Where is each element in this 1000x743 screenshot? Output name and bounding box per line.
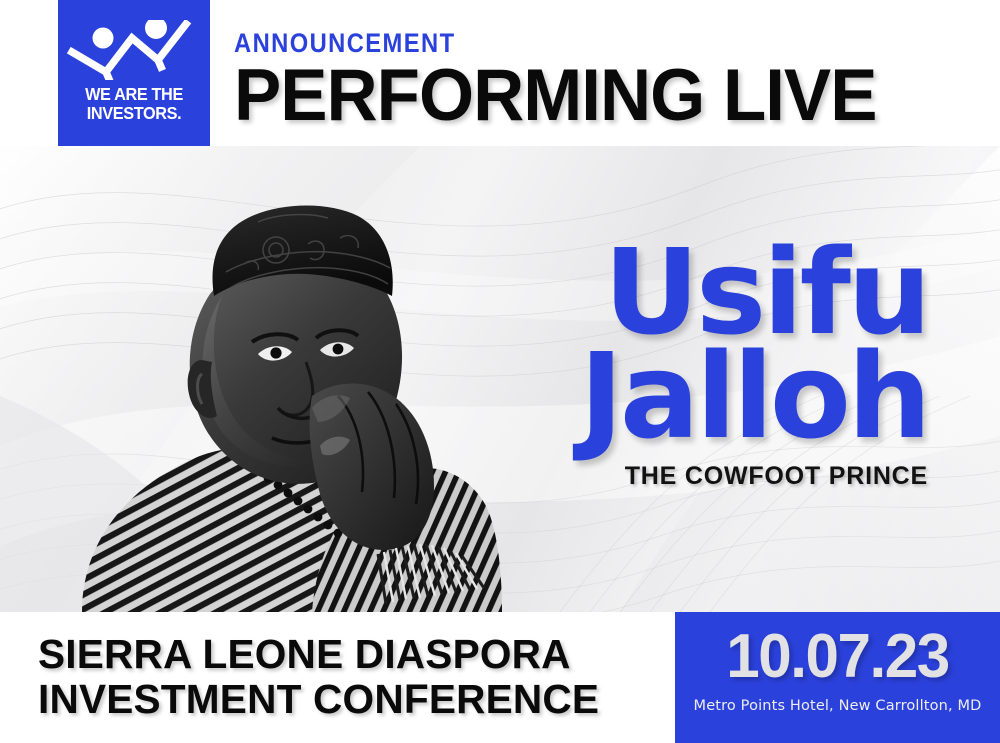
artist-last-name: Jalloh xyxy=(308,344,928,448)
event-announcement-poster: WE ARE THE INVESTORS. ANNOUNCEMENT PERFO… xyxy=(0,0,1000,743)
artist-name-block: Usifu Jalloh THE COWFOOT PRINCE xyxy=(308,240,928,491)
brand-wordmark: WE ARE THE INVESTORS. xyxy=(58,85,210,122)
header-band: WE ARE THE INVESTORS. ANNOUNCEMENT PERFO… xyxy=(0,0,1000,146)
artist-nickname: THE COWFOOT PRINCE xyxy=(308,462,928,491)
event-venue: Metro Points Hotel, New Carrollton, MD xyxy=(675,698,1000,714)
footer-band: SIERRA LEONE DIASPORA INVESTMENT CONFERE… xyxy=(0,612,1000,743)
date-panel: 10.07.23 Metro Points Hotel, New Carroll… xyxy=(675,612,1000,743)
header-text-group: ANNOUNCEMENT PERFORMING LIVE xyxy=(234,28,974,134)
conference-title: SIERRA LEONE DIASPORA INVESTMENT CONFERE… xyxy=(38,632,599,722)
brand-logo-tile: WE ARE THE INVESTORS. xyxy=(58,0,210,146)
conference-title-line1: SIERRA LEONE DIASPORA xyxy=(38,632,599,677)
brand-wordmark-line1: WE ARE THE xyxy=(63,85,204,104)
brand-wordmark-line2: INVESTORS. xyxy=(63,104,204,123)
conference-title-line2: INVESTMENT CONFERENCE xyxy=(38,677,599,722)
growth-chart-people-icon xyxy=(66,20,202,80)
page-title: PERFORMING LIVE xyxy=(234,58,952,134)
announcement-kicker: ANNOUNCEMENT xyxy=(234,28,885,58)
event-date: 10.07.23 xyxy=(680,624,995,690)
